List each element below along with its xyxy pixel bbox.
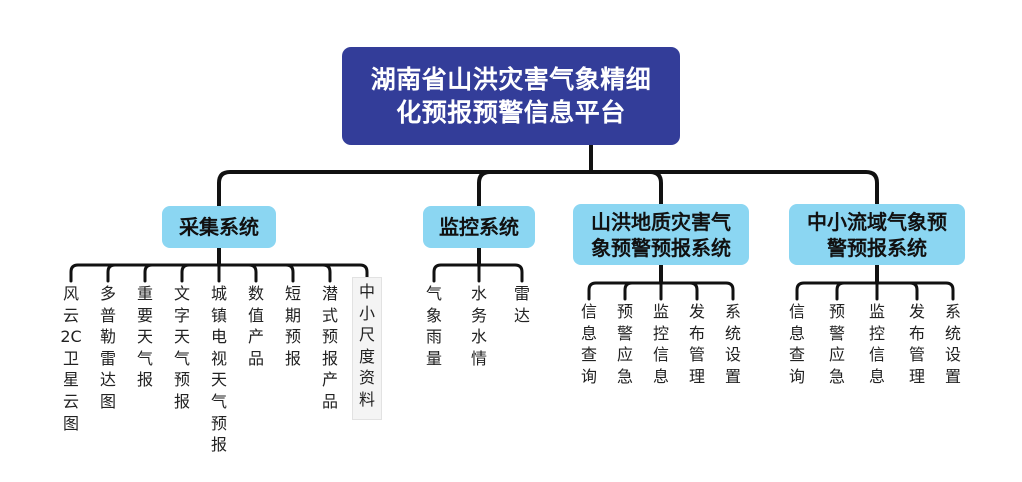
leaf-node[interactable]: 监控信息 (648, 299, 674, 387)
leaf-node[interactable]: 气象雨量 (421, 281, 447, 369)
leaf-node[interactable]: 预警应急 (824, 299, 850, 387)
leaf-node[interactable]: 文字天气预报 (169, 281, 195, 413)
org-chart-canvas: 湖南省山洪灾害气象精细化预报预警信息平台 采集系统 监控系统 山洪地质灾害气象预… (0, 0, 1022, 482)
leaf-node[interactable]: 监控信息 (864, 299, 890, 387)
leaf-node[interactable]: 重要天气报 (132, 281, 158, 391)
root-node-platform-title[interactable]: 湖南省山洪灾害气象精细化预报预警信息平台 (342, 47, 680, 145)
leaf-node[interactable]: 风云2C卫星云图 (58, 281, 84, 434)
system-node-label: 采集系统 (179, 214, 259, 240)
leaf-node[interactable]: 发布管理 (684, 299, 710, 387)
leaf-node[interactable]: 信息查询 (576, 299, 602, 387)
system-node-monitoring[interactable]: 监控系统 (423, 206, 535, 248)
system-node-label: 监控系统 (439, 214, 519, 240)
leaf-node[interactable]: 城镇电视天气预报 (206, 281, 232, 456)
system-node-label: 山洪地质灾害气象预警预报系统 (583, 209, 739, 261)
leaf-node[interactable]: 系统设置 (940, 299, 966, 387)
leaf-node[interactable]: 预警应急 (612, 299, 638, 387)
system-node-label: 中小流域气象预警预报系统 (799, 209, 955, 261)
system-node-small-medium-basin-warning[interactable]: 中小流域气象预警预报系统 (789, 204, 965, 265)
leaf-node[interactable]: 雷达 (509, 281, 535, 326)
leaf-node[interactable]: 系统设置 (720, 299, 746, 387)
leaf-node[interactable]: 水务水情 (466, 281, 492, 369)
system-node-collection[interactable]: 采集系统 (162, 206, 276, 248)
leaf-node[interactable]: 信息查询 (784, 299, 810, 387)
leaf-node[interactable]: 潜式预报产品 (317, 281, 343, 413)
system-node-flood-geological-warning[interactable]: 山洪地质灾害气象预警预报系统 (573, 204, 749, 265)
leaf-node[interactable]: 发布管理 (904, 299, 930, 387)
leaf-node[interactable]: 多普勒雷达图 (95, 281, 121, 413)
leaf-node[interactable]: 数值产品 (243, 281, 269, 369)
leaf-node-highlighted[interactable]: 中小尺度资料 (352, 277, 382, 420)
leaf-node[interactable]: 短期预报 (280, 281, 306, 369)
root-node-label: 湖南省山洪灾害气象精细化预报预警信息平台 (364, 63, 658, 129)
